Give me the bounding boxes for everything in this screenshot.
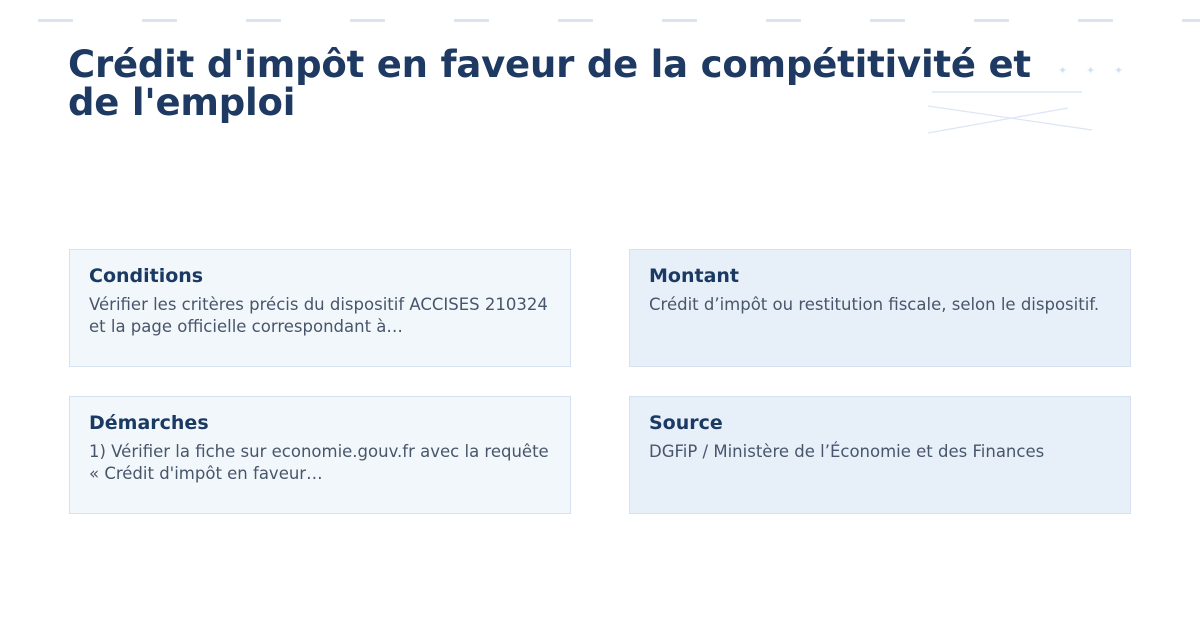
top-dash: [662, 19, 697, 22]
sparkle-icon: ✦: [1058, 66, 1067, 75]
top-dash: [454, 19, 489, 22]
sparkle-icon: ✦: [1086, 66, 1095, 75]
card-source[interactable]: Source DGFiP / Ministère de l’Économie e…: [629, 396, 1131, 514]
top-dash: [350, 19, 385, 22]
card-body: Vérifier les critères précis du disposit…: [89, 294, 551, 338]
card-montant[interactable]: Montant Crédit d’impôt ou restitution fi…: [629, 249, 1131, 367]
top-dash: [558, 19, 593, 22]
card-conditions[interactable]: Conditions Vérifier les critères précis …: [69, 249, 571, 367]
card-title: Montant: [649, 265, 1111, 287]
top-dash: [974, 19, 1009, 22]
sparkle-icon: ✦: [1114, 66, 1123, 75]
card-title: Démarches: [89, 412, 551, 434]
top-dash: [766, 19, 801, 22]
info-card-grid: Conditions Vérifier les critères précis …: [69, 249, 1131, 514]
top-dash: [246, 19, 281, 22]
top-dash: [38, 19, 73, 22]
card-body: DGFiP / Ministère de l’Économie et des F…: [649, 441, 1111, 463]
card-body: Crédit d’impôt ou restitution fiscale, s…: [649, 294, 1111, 316]
decorative-dots: ✦✦✦: [1050, 62, 1140, 82]
top-dash: [142, 19, 177, 22]
top-dash: [1078, 19, 1113, 22]
top-dash: [1182, 19, 1200, 22]
card-title: Source: [649, 412, 1111, 434]
card-demarches[interactable]: Démarches 1) Vérifier la fiche sur econo…: [69, 396, 571, 514]
card-body: 1) Vérifier la fiche sur economie.gouv.f…: [89, 441, 551, 485]
card-title: Conditions: [89, 265, 551, 287]
page-title: Crédit d'impôt en faveur de la compétiti…: [68, 46, 1058, 122]
top-dash-rule: [0, 19, 1200, 22]
top-dash: [870, 19, 905, 22]
